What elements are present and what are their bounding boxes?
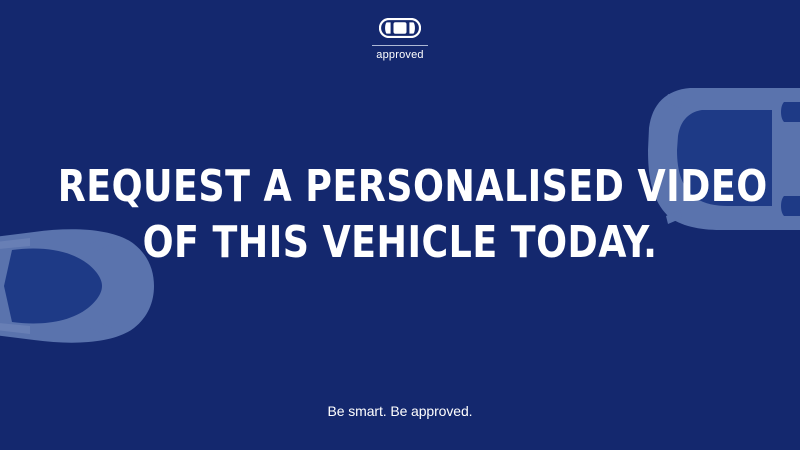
headline-line-2: OF THIS VEHICLE TODAY. — [58, 214, 742, 272]
footer-tagline: Be smart. Be approved. — [0, 404, 800, 418]
brand-lockup: approved — [0, 18, 800, 61]
brand-name: approved — [376, 50, 423, 61]
brand-rule — [372, 45, 428, 46]
promo-banner: approved REQUEST A PERSONALISED VIDEO OF… — [0, 0, 800, 450]
car-top-view-icon — [379, 18, 421, 38]
headline-line-1: REQUEST A PERSONALISED VIDEO — [58, 158, 742, 216]
page-title: REQUEST A PERSONALISED VIDEO OF THIS VEH… — [32, 158, 768, 272]
